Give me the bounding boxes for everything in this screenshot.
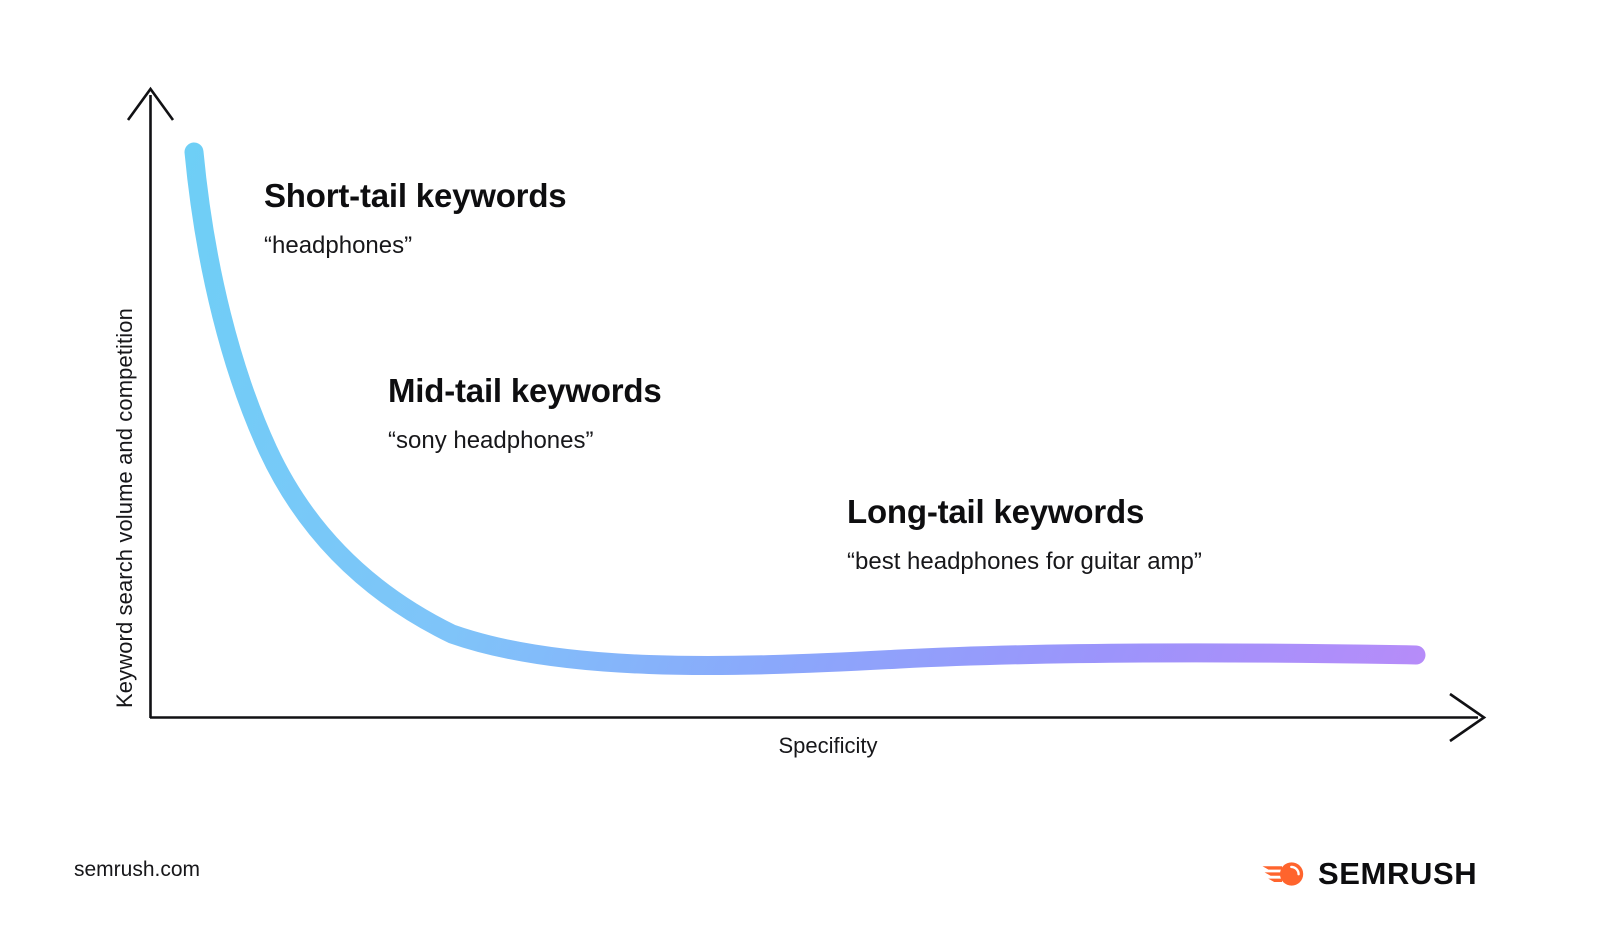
annotation-short-tail-example: “headphones” (264, 232, 566, 261)
source-url: semrush.com (74, 858, 200, 882)
semrush-comet-icon (1262, 856, 1308, 890)
annotation-long-tail-title: Long-tail keywords (847, 494, 1202, 530)
x-axis-title: Specificity (778, 733, 877, 758)
annotation-short-tail-title: Short-tail keywords (264, 178, 566, 214)
y-axis-title: Keyword search volume and competition (112, 68, 138, 708)
annotation-short-tail: Short-tail keywords “headphones” (264, 178, 566, 261)
y-axis-title-wrapper: Keyword search volume and competition (112, 708, 113, 709)
annotation-mid-tail: Mid-tail keywords “sony headphones” (388, 373, 662, 456)
annotation-long-tail: Long-tail keywords “best headphones for … (847, 494, 1202, 577)
long-tail-keyword-curve-chart (0, 0, 1600, 933)
semrush-wordmark: SEMRUSH (1318, 858, 1477, 889)
chart-canvas: Keyword search volume and competition Sp… (0, 0, 1600, 933)
x-axis-title-row: Specificity (0, 733, 1600, 759)
semrush-logo: SEMRUSH (1262, 852, 1477, 894)
annotation-mid-tail-title: Mid-tail keywords (388, 373, 662, 409)
annotation-mid-tail-example: “sony headphones” (388, 427, 662, 456)
annotation-long-tail-example: “best headphones for guitar amp” (847, 548, 1202, 577)
